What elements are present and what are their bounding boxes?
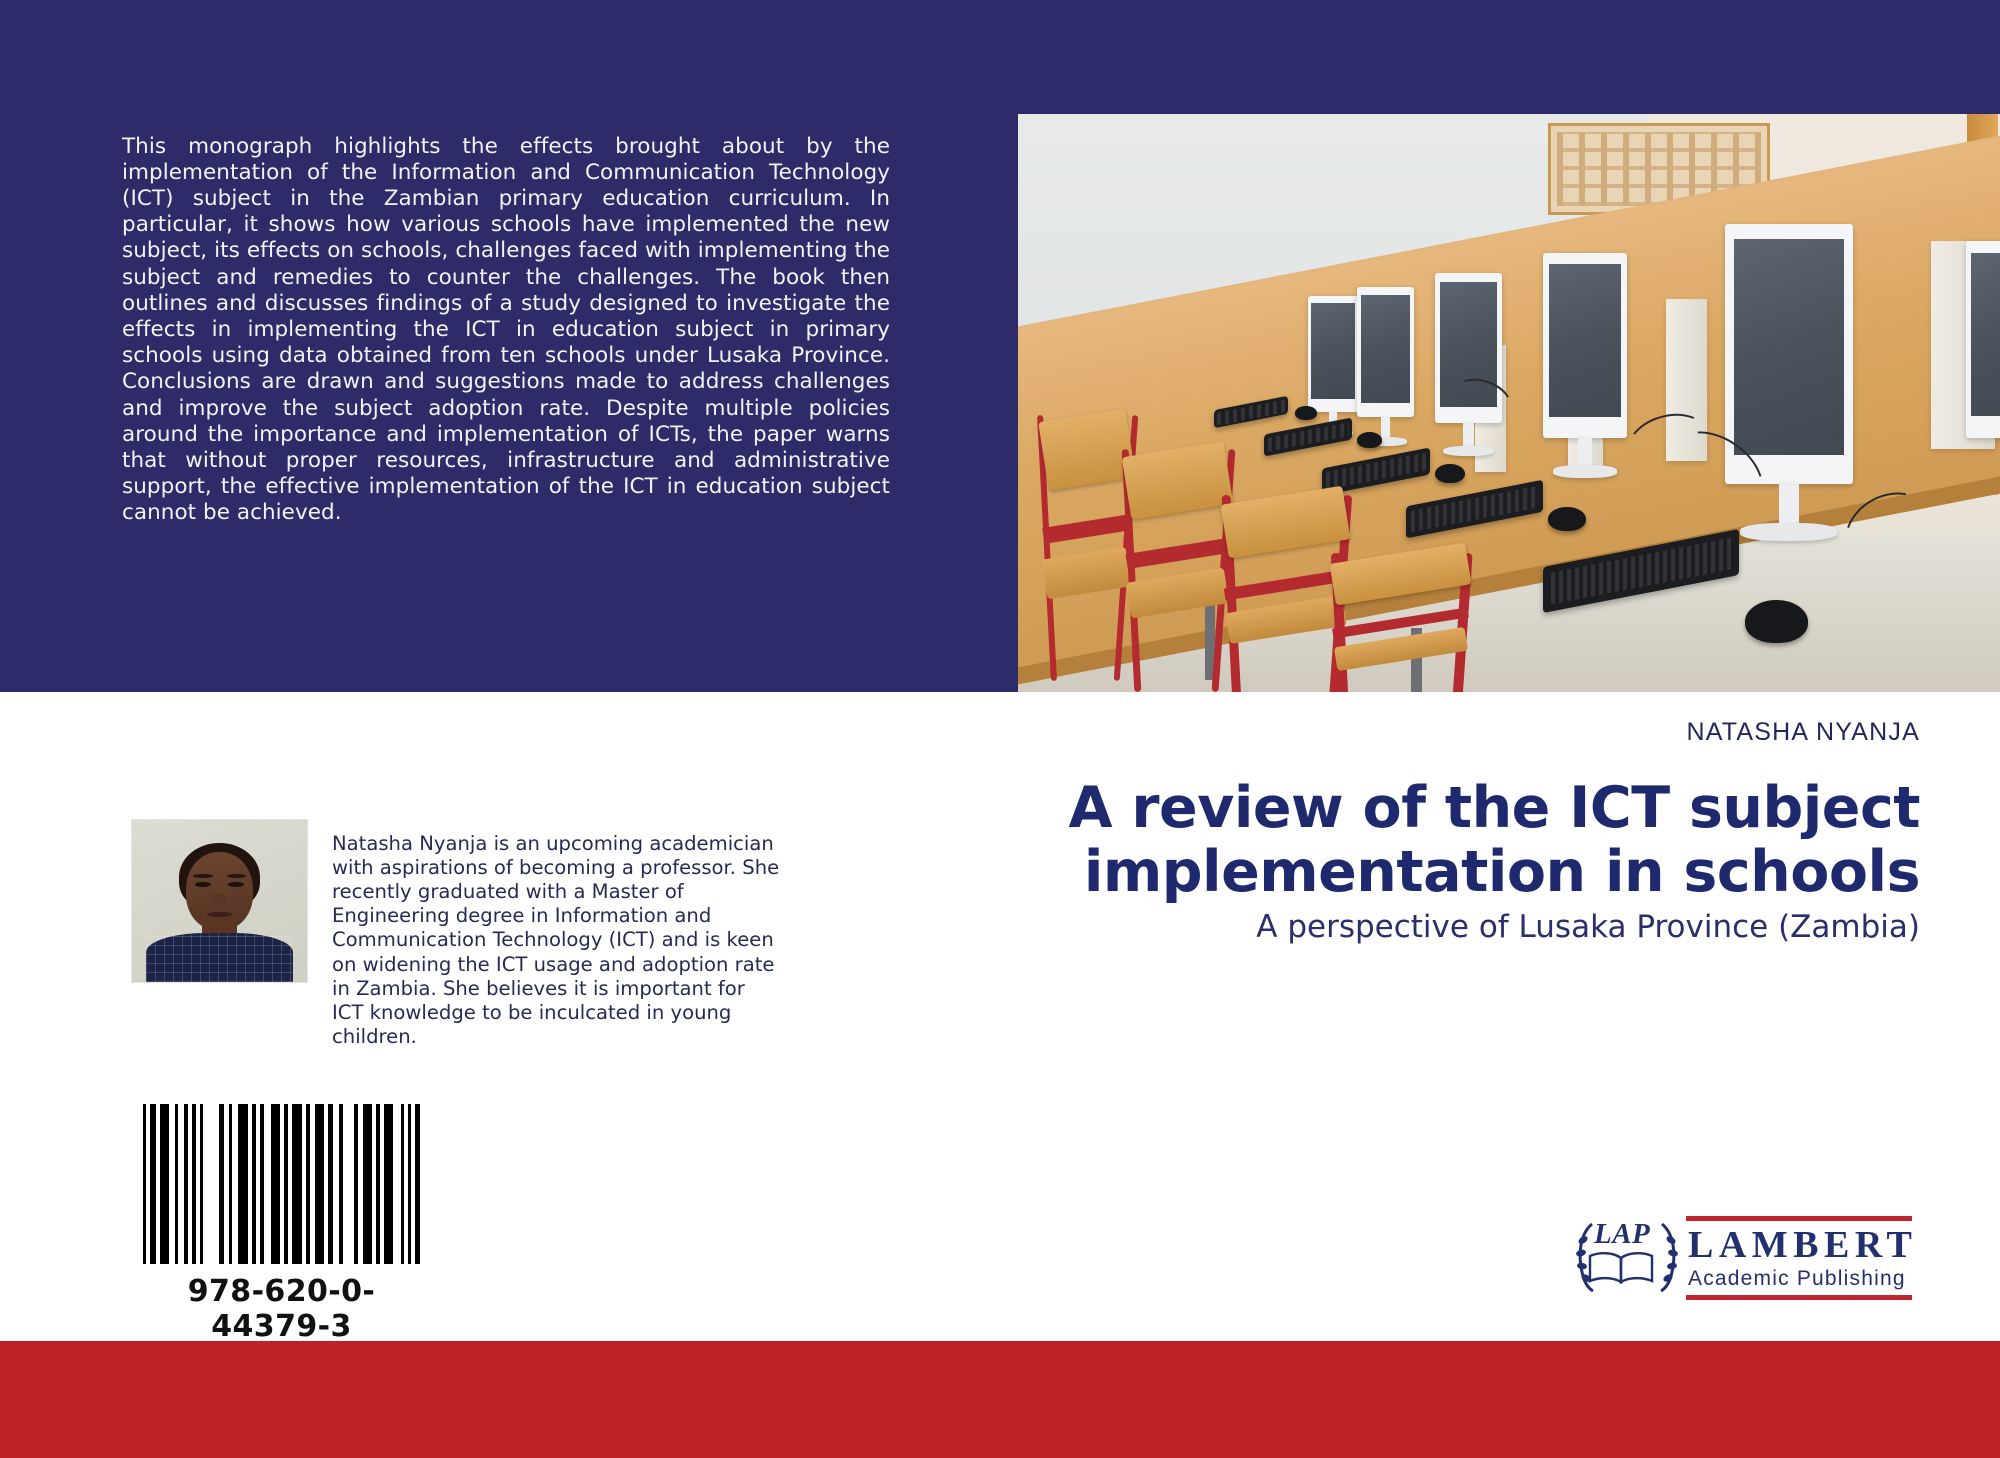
publisher-name-block: LAMBERT Academic Publishing	[1686, 1216, 1917, 1300]
isbn-number: 978-620-0-44379-3	[143, 1274, 420, 1344]
isbn-barcode-block: 978-620-0-44379-3	[143, 1104, 420, 1344]
back-cover-blurb: This monograph highlights the effects br…	[122, 134, 890, 527]
publisher-name: LAMBERT	[1686, 1221, 1917, 1266]
portrait-eyebrow-left	[193, 874, 212, 878]
open-book-icon	[1587, 1250, 1655, 1286]
classroom-chair	[1126, 449, 1229, 692]
monitor	[1543, 253, 1626, 438]
monitor	[1966, 241, 2000, 438]
lap-wordmark: LAP	[1594, 1218, 1650, 1251]
lap-emblem-icon: LAP	[1578, 1212, 1674, 1304]
computer-mouse	[1435, 464, 1464, 484]
publisher-logo: LAP LAMBERT Academic Publishing	[1578, 1212, 1900, 1304]
logo-rule-bottom	[1686, 1295, 1912, 1300]
portrait-eye-right	[228, 882, 244, 888]
classroom-chair	[1043, 415, 1131, 681]
cover-photo-computer-lab	[1018, 114, 2000, 692]
front-cover-author: NATASHA NYANJA	[1150, 718, 1920, 747]
front-cover-subtitle: A perspective of Lusaka Province (Zambia…	[1030, 908, 1920, 946]
portrait-face	[186, 852, 253, 930]
computer-mouse	[1295, 406, 1317, 420]
author-portrait	[131, 819, 308, 983]
computer-lab-illustration	[1018, 114, 2000, 692]
classroom-chair	[1332, 553, 1469, 692]
portrait-eye-left	[195, 882, 211, 888]
portrait-nose	[212, 893, 228, 906]
monitor	[1357, 287, 1414, 417]
front-cover-title: A review of the ICT subject implementati…	[1030, 776, 1920, 904]
portrait-eyebrow-right	[227, 874, 246, 878]
portrait-clothing	[146, 933, 293, 982]
computer-mouse	[1357, 432, 1383, 448]
bottom-red-band	[0, 1341, 2000, 1458]
computer-mouse	[1745, 600, 1808, 643]
classroom-chair	[1224, 495, 1347, 692]
author-biography: Natasha Nyanja is an upcoming academicia…	[332, 832, 782, 1050]
computer-mouse	[1548, 507, 1585, 531]
wreath-right-icon	[1658, 1220, 1678, 1292]
publisher-tagline: Academic Publishing	[1686, 1266, 1917, 1295]
monitor	[1308, 296, 1359, 412]
barcode-bars	[143, 1104, 420, 1264]
monitor	[1725, 224, 1853, 484]
